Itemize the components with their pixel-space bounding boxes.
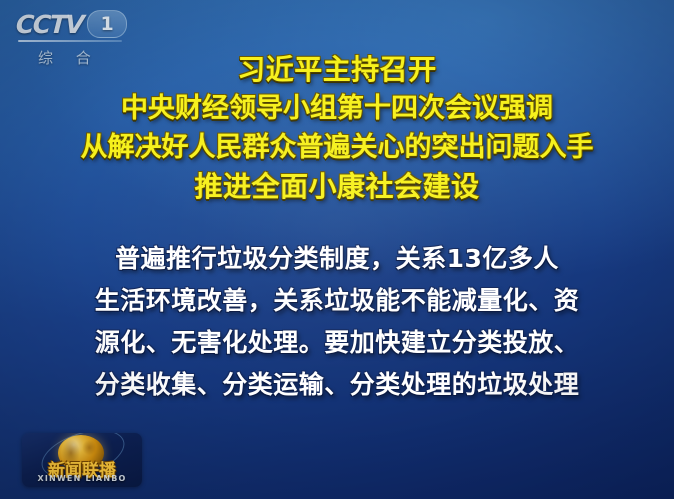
- channel-number: 1: [100, 13, 113, 35]
- broadcast-frame: CCTV 1 综 合 习近平主持召开 中央财经领导小组第十四次会议强调 从解决好…: [0, 0, 674, 499]
- headline-line-1: 习近平主持召开: [0, 50, 674, 89]
- channel-bug-underline: [18, 40, 122, 42]
- channel-number-badge: 1: [87, 10, 127, 38]
- cctv-wordmark: CCTV: [15, 10, 84, 39]
- headline-line-2: 中央财经领导小组第十四次会议强调: [0, 89, 674, 128]
- body-line-2: 生活环境改善，关系垃圾能不能减量化、资: [0, 280, 674, 322]
- body-line-4: 分类收集、分类运输、分类处理的垃圾处理: [0, 364, 674, 406]
- headline-line-4: 推进全面小康社会建设: [0, 167, 674, 206]
- headline-block: 习近平主持召开 中央财经领导小组第十四次会议强调 从解决好人民群众普遍关心的突出…: [0, 50, 674, 206]
- program-logo: 新闻联播 XINWEN LIANBO: [22, 433, 142, 487]
- headline-line-3: 从解决好人民群众普遍关心的突出问题入手: [0, 128, 674, 167]
- body-line-3: 源化、无害化处理。要加快建立分类投放、: [0, 322, 674, 364]
- channel-bug-row: CCTV 1: [16, 9, 140, 39]
- program-name-en: XINWEN LIANBO: [22, 474, 142, 483]
- body-line-1: 普遍推行垃圾分类制度，关系13亿多人: [0, 238, 674, 280]
- body-text-block: 普遍推行垃圾分类制度，关系13亿多人 生活环境改善，关系垃圾能不能减量化、资 源…: [0, 238, 674, 406]
